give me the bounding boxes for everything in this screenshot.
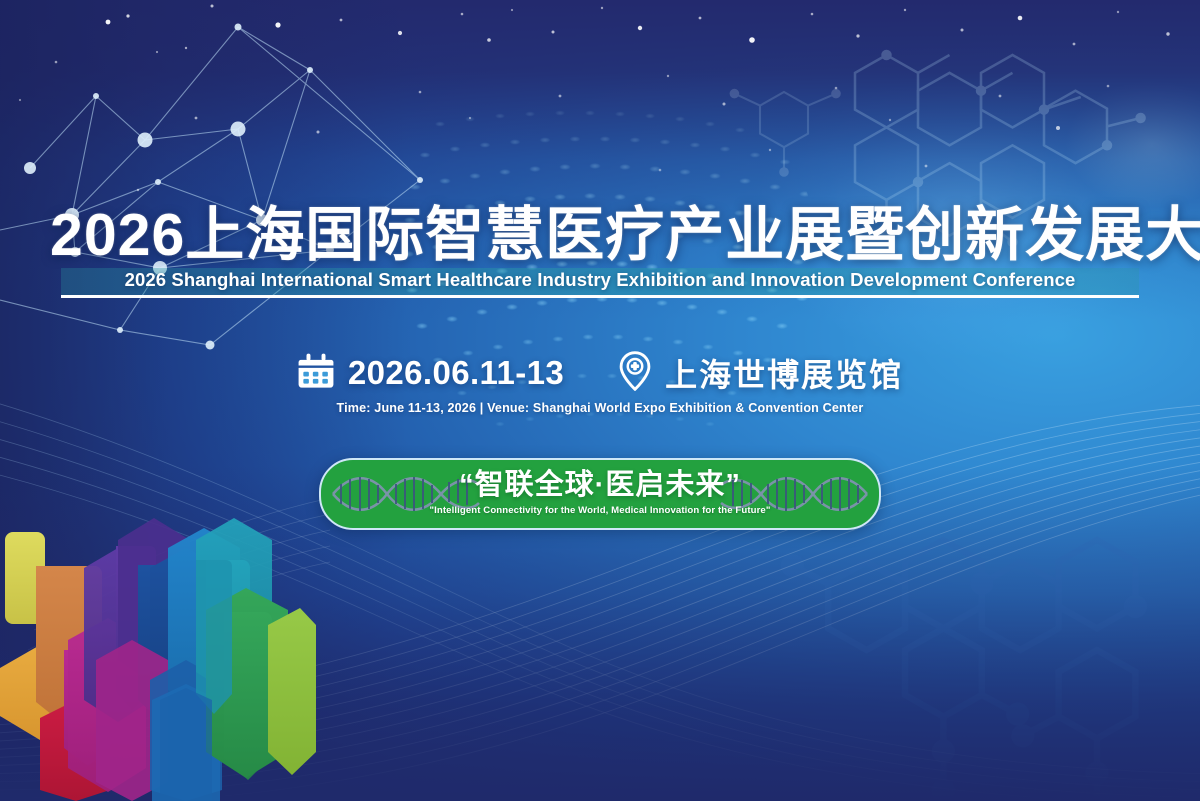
event-meta: 2026.06.11-13 上海世博展览馆 [200, 350, 1000, 415]
event-venue: 上海世博展览馆 [618, 350, 903, 396]
map-pin-medical-icon [618, 351, 652, 396]
page-title-cn: 2026上海国际智慧医疗产业展暨创新发展大会 [50, 206, 1150, 265]
slogan-badge: “智联全球·医启未来” "Intelligent Connectivity fo… [319, 458, 881, 530]
event-details-en: Time: June 11-13, 2026 | Venue: Shanghai… [200, 401, 1000, 415]
slogan-cn: “智联全球·医启未来” [459, 471, 741, 500]
event-date-value: 2026.06.11-13 [348, 354, 564, 392]
event-venue-value: 上海世博展览馆 [665, 350, 903, 396]
event-date: 2026.06.11-13 [297, 352, 564, 395]
page-title-en-band: 2026 Shanghai International Smart Health… [61, 268, 1139, 298]
calendar-icon [297, 352, 335, 395]
page-title-en: 2026 Shanghai International Smart Health… [61, 269, 1139, 291]
conference-banner: 2026上海国际智慧医疗产业展暨创新发展大会 2026 Shanghai Int… [0, 0, 1200, 801]
slogan-en: "Intelligent Connectivity for the World,… [429, 505, 770, 516]
banner-content: 2026上海国际智慧医疗产业展暨创新发展大会 2026 Shanghai Int… [0, 0, 1200, 801]
